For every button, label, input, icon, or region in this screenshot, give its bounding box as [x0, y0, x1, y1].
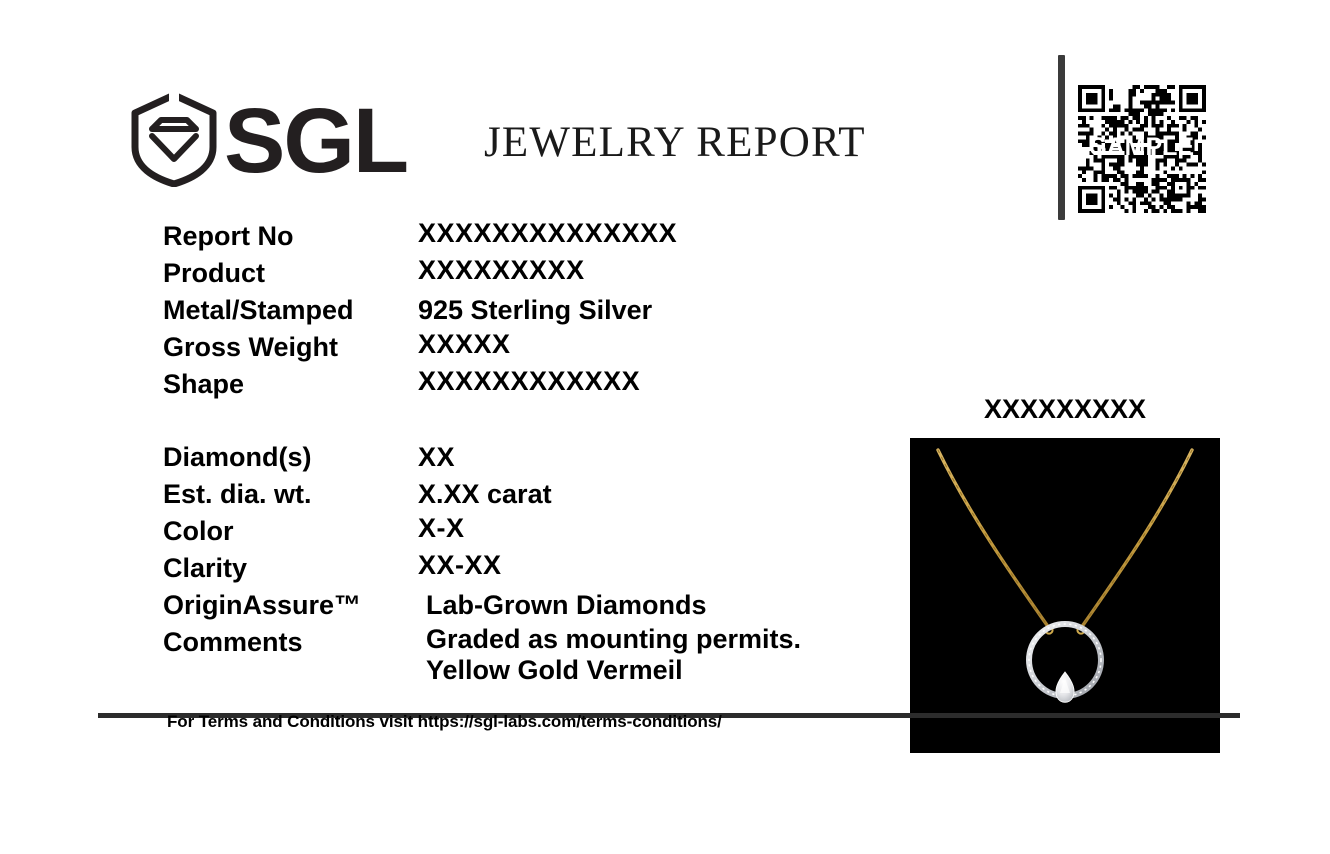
detail-value: XXXXXXXXX — [418, 255, 585, 286]
detail-value: XXXXXXXXXXXXXX — [418, 218, 677, 249]
product-photo — [910, 438, 1220, 753]
sgl-logo: SGL — [128, 88, 407, 188]
detail-row-est-dia-wt: Est. dia. wt. X.XX carat — [163, 476, 923, 513]
detail-label: Color — [163, 513, 418, 550]
section-divider-space — [163, 403, 923, 439]
detail-value: X-X — [418, 513, 465, 544]
product-caption: XXXXXXXXX — [910, 392, 1220, 426]
detail-row-clarity: Clarity XX-XX — [163, 550, 923, 587]
detail-row-originassure: OriginAssure™ Lab-Grown Diamonds — [163, 587, 923, 624]
detail-value: XX — [418, 439, 455, 476]
footer-terms-text: For Terms and Conditions visit https://s… — [167, 712, 722, 732]
detail-value: Lab-Grown Diamonds — [418, 587, 707, 624]
detail-label: Shape — [163, 366, 418, 403]
qr-code-canvas — [1078, 85, 1206, 213]
detail-value: XX-XX — [418, 550, 502, 581]
detail-row-diamonds: Diamond(s) XX — [163, 439, 923, 476]
detail-value: XXXXXXXXXXXX — [418, 366, 640, 397]
detail-value: X.XX carat — [418, 476, 552, 513]
shield-diamond-icon — [128, 89, 220, 187]
brand-wordmark: SGL — [224, 95, 407, 187]
detail-value: Graded as mounting permits. Yellow Gold … — [418, 624, 801, 686]
detail-label: Diamond(s) — [163, 439, 418, 476]
detail-label: Comments — [163, 624, 418, 661]
qr-block: SAMPLE — [1058, 55, 1208, 220]
detail-row-shape: Shape XXXXXXXXXXXX — [163, 366, 923, 403]
product-panel: XXXXXXXXX — [910, 392, 1222, 753]
detail-row-product: Product XXXXXXXXX — [163, 255, 923, 292]
detail-value: 925 Sterling Silver — [418, 292, 652, 329]
report-details: Report No XXXXXXXXXXXXXX Product XXXXXXX… — [163, 218, 923, 686]
detail-row-report-no: Report No XXXXXXXXXXXXXX — [163, 218, 923, 255]
detail-row-comments: Comments Graded as mounting permits. Yel… — [163, 624, 923, 686]
report-header: SGL JEWELRY REPORT SAMPLE — [0, 0, 1330, 210]
detail-row-metal-stamped: Metal/Stamped 925 Sterling Silver — [163, 292, 923, 329]
detail-row-gross-weight: Gross Weight XXXXX — [163, 329, 923, 366]
detail-label: Est. dia. wt. — [163, 476, 418, 513]
jewelry-report-page: SGL JEWELRY REPORT SAMPLE Report No XXXX… — [0, 0, 1330, 854]
detail-label: Product — [163, 255, 418, 292]
page-title: JEWELRY REPORT — [484, 118, 866, 167]
detail-label: OriginAssure™ — [163, 587, 418, 624]
detail-row-color: Color X-X — [163, 513, 923, 550]
detail-label: Metal/Stamped — [163, 292, 418, 329]
detail-label: Gross Weight — [163, 329, 418, 366]
detail-label: Clarity — [163, 550, 418, 587]
detail-label: Report No — [163, 218, 418, 255]
necklace-image — [910, 438, 1220, 753]
qr-code-icon[interactable]: SAMPLE — [1078, 85, 1206, 213]
qr-side-bar — [1058, 55, 1065, 220]
detail-value: XXXXX — [418, 329, 511, 360]
